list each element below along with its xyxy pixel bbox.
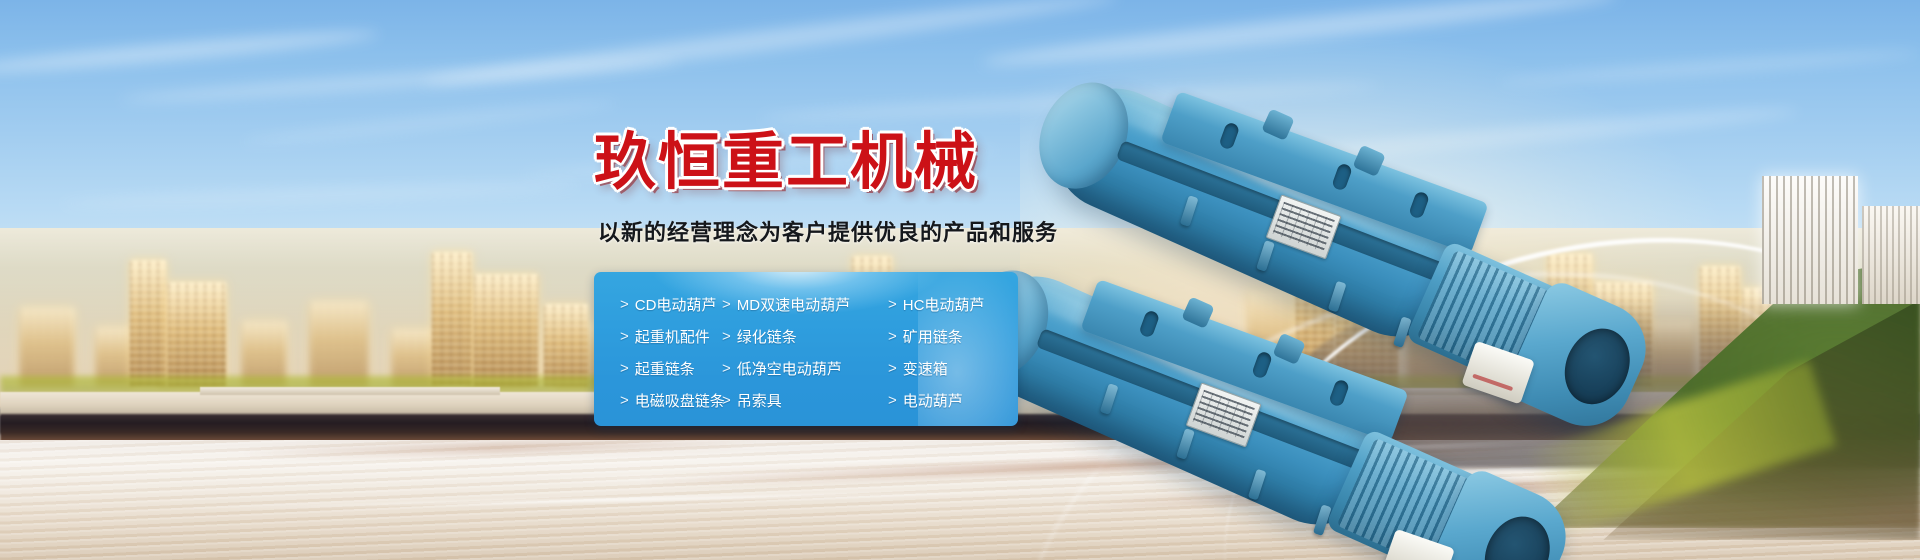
chevron-right-icon: > [888, 360, 897, 377]
barrier-step [200, 387, 500, 395]
beam-bolt-hole [1138, 309, 1160, 338]
beam-bolt-hole [1218, 121, 1240, 150]
chevron-right-icon: > [722, 296, 731, 313]
chevron-right-icon: > [620, 328, 629, 345]
product-link[interactable]: >电动葫芦 [876, 390, 1016, 411]
product-link-label: CD电动葫芦 [635, 294, 717, 315]
chevron-right-icon: > [620, 392, 629, 409]
product-link[interactable]: >矿用链条 [876, 326, 1016, 347]
hoist-clamp [1256, 240, 1275, 272]
product-link-label: 矿用链条 [903, 326, 963, 347]
chevron-right-icon: > [888, 328, 897, 345]
chevron-right-icon: > [722, 360, 731, 377]
product-link[interactable]: >变速箱 [876, 358, 1016, 379]
product-link-label: 低净空电动葫芦 [737, 358, 842, 379]
product-link[interactable]: >电磁吸盘链条 [594, 390, 720, 411]
hoist-clamp [1100, 383, 1119, 415]
chevron-right-icon: > [722, 328, 731, 345]
product-link-label: 变速箱 [903, 358, 948, 379]
product-links-grid: >CD电动葫芦>MD双速电动葫芦>HC电动葫芦>起重机配件>绿化链条>矿用链条>… [594, 272, 1018, 426]
hoist-end-cap [1023, 68, 1144, 203]
beam-bolt-hole [1328, 378, 1350, 407]
product-link-label: 起重链条 [635, 358, 695, 379]
beam-bolt-hole [1251, 350, 1273, 379]
chevron-right-icon: > [620, 296, 629, 313]
product-links-row: >起重机配件>绿化链条>矿用链条 [594, 320, 1018, 352]
beam-bolt-hole [1331, 162, 1353, 191]
product-links-row: >电磁吸盘链条>吊索具>电动葫芦 [594, 384, 1018, 416]
banner-subtitle: 以新的经营理念为客户提供优良的产品和服务 [598, 222, 1058, 244]
hoist-nameplate [1266, 194, 1342, 259]
product-link-label: 吊索具 [737, 390, 782, 411]
chevron-right-icon: > [722, 392, 731, 409]
hoist-clamp [1328, 281, 1347, 313]
chevron-right-icon: > [888, 296, 897, 313]
chevron-right-icon: > [620, 360, 629, 377]
product-links-row: >起重链条>低净空电动葫芦>变速箱 [594, 352, 1018, 384]
product-link[interactable]: >CD电动葫芦 [594, 294, 720, 315]
hoist-clamp [1176, 428, 1195, 460]
product-link[interactable]: >HC电动葫芦 [876, 294, 1016, 315]
chevron-right-icon: > [888, 392, 897, 409]
product-link[interactable]: >起重链条 [594, 358, 720, 379]
product-links-panel: >CD电动葫芦>MD双速电动葫芦>HC电动葫芦>起重机配件>绿化链条>矿用链条>… [594, 272, 1018, 426]
product-link[interactable]: >MD双速电动葫芦 [720, 294, 876, 315]
product-link[interactable]: >吊索具 [720, 390, 876, 411]
hero-banner: 玖恒重工机械 以新的经营理念为客户提供优良的产品和服务 >CD电动葫芦>MD双速… [0, 0, 1920, 560]
product-links-row: >CD电动葫芦>MD双速电动葫芦>HC电动葫芦 [594, 288, 1018, 320]
product-link-label: 电磁吸盘链条 [635, 390, 725, 411]
beam-bolt-hole [1408, 190, 1430, 219]
banner-headline: 玖恒重工机械 [594, 132, 978, 194]
product-link[interactable]: >低净空电动葫芦 [720, 358, 876, 379]
product-link[interactable]: >绿化链条 [720, 326, 876, 347]
product-link-label: MD双速电动葫芦 [737, 294, 850, 315]
hoist-clamp [1180, 195, 1199, 227]
product-link-label: 电动葫芦 [903, 390, 963, 411]
electric-hoist-product-group [1040, 60, 1920, 480]
hoist-nameplate [1186, 382, 1262, 447]
product-link-label: 绿化链条 [737, 326, 797, 347]
product-link-label: 起重机配件 [635, 326, 710, 347]
product-link-label: HC电动葫芦 [903, 294, 985, 315]
product-link[interactable]: >起重机配件 [594, 326, 720, 347]
hoist-clamp [1248, 469, 1267, 501]
